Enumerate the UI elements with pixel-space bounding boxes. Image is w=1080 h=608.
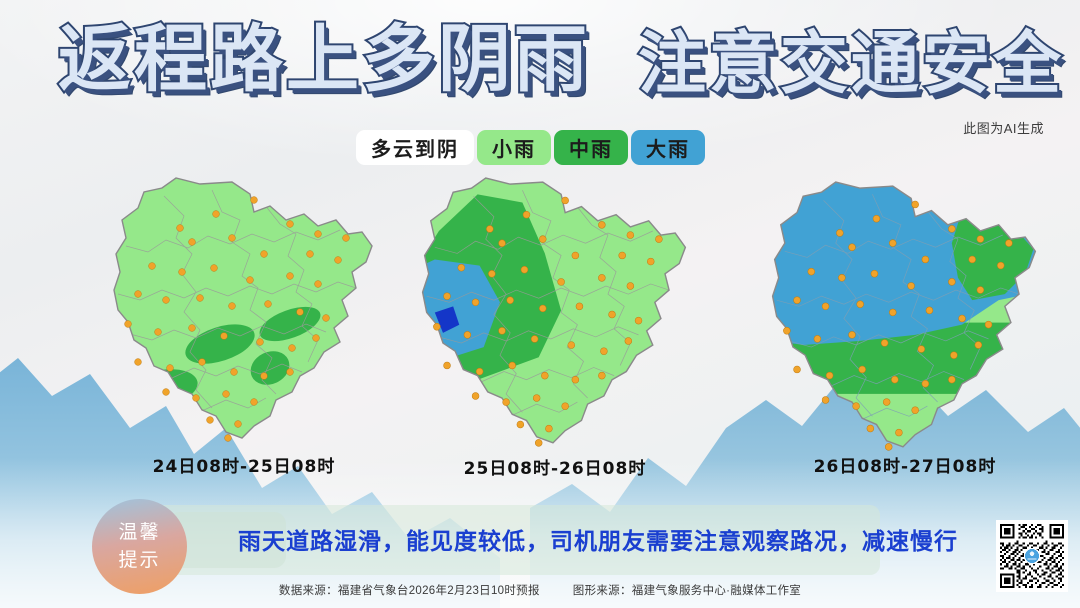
footer-data-source: 数据来源：福建省气象台2026年2月23日10时预报	[279, 585, 540, 597]
footer-graphic-source: 图形来源：福建气象服务中心·融媒体工作室	[573, 585, 801, 597]
precipitation-legend: 多云到阴 小雨 中雨 大雨	[356, 130, 708, 165]
tip-badge-line-2: 提示	[118, 547, 160, 575]
qr-code[interactable]	[996, 520, 1068, 592]
ai-generated-note: 此图为AI生成	[963, 118, 1044, 137]
map-caption-day3: 26日08时-27日08时	[760, 452, 1050, 477]
legend-item-moderate-rain[interactable]: 中雨	[554, 130, 628, 165]
legend-item-light-rain[interactable]: 小雨	[477, 130, 551, 165]
legend-item-heavy-rain[interactable]: 大雨	[631, 130, 705, 165]
forecast-map-day3[interactable]: 26日08时-27日08时	[760, 180, 1050, 480]
tip-badge-line-1: 温馨	[118, 519, 160, 547]
qr-code-svg	[998, 522, 1066, 590]
fujian-map-svg-day2	[410, 176, 700, 451]
fujian-map-svg-day3	[760, 180, 1050, 455]
legend-item-cloudy[interactable]: 多云到阴	[356, 130, 474, 165]
headline-line-1: 返程路上多阴雨	[58, 22, 590, 99]
map-caption-day2: 25日08时-26日08时	[410, 454, 700, 479]
fujian-map-svg-day1	[104, 176, 384, 446]
footer-sources: 数据来源：福建省气象台2026年2月23日10时预报 图形来源：福建气象服务中心…	[0, 582, 1080, 598]
forecast-map-day2[interactable]: 25日08时-26日08时	[410, 176, 700, 476]
map-caption-day1: 24日08时-25日08时	[104, 452, 384, 477]
headline-line-2: 注意交通安全	[638, 29, 1064, 100]
forecast-map-day1[interactable]: 24日08时-25日08时	[104, 176, 384, 476]
headline-group: 返程路上多阴雨 注意交通安全	[0, 22, 1010, 100]
tip-badge: 温馨 提示	[92, 499, 187, 594]
safety-warning-text: 雨天道路湿滑，能见度较低，司机朋友需要注意观察路况，减速慢行	[238, 522, 958, 556]
